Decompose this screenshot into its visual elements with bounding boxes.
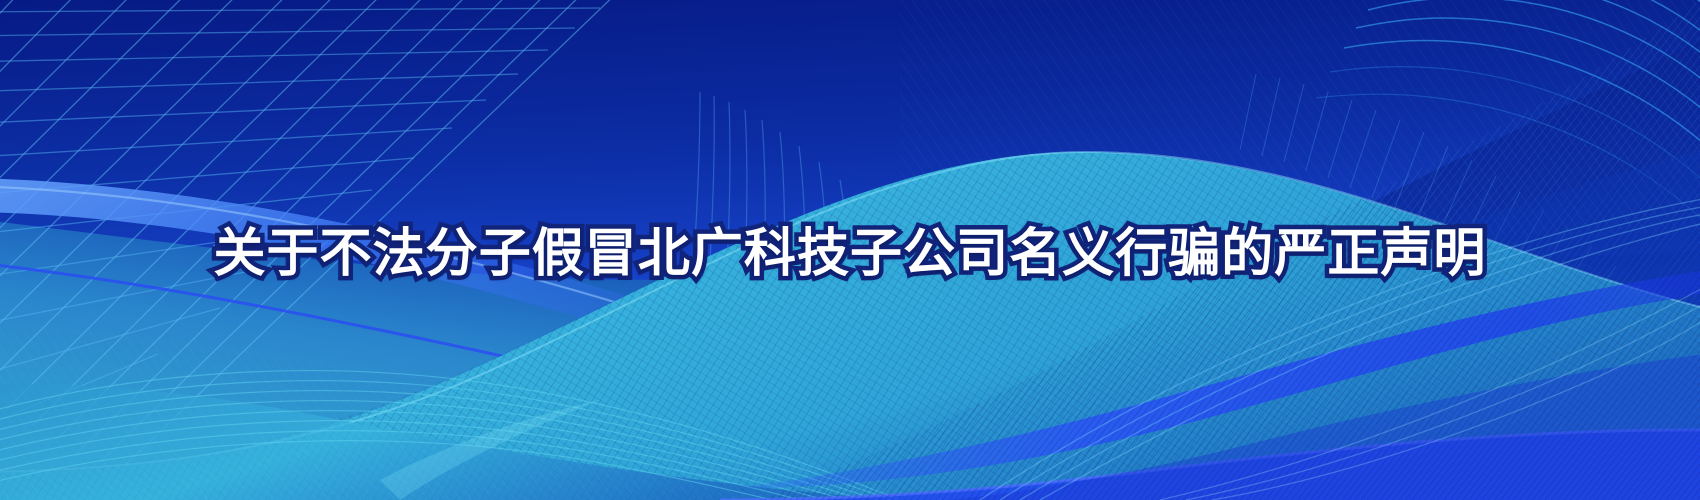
promo-banner: 关于不法分子假冒北广科技子公司名义行骗的严正声明 <box>0 0 1700 500</box>
banner-background-artwork <box>0 0 1700 500</box>
